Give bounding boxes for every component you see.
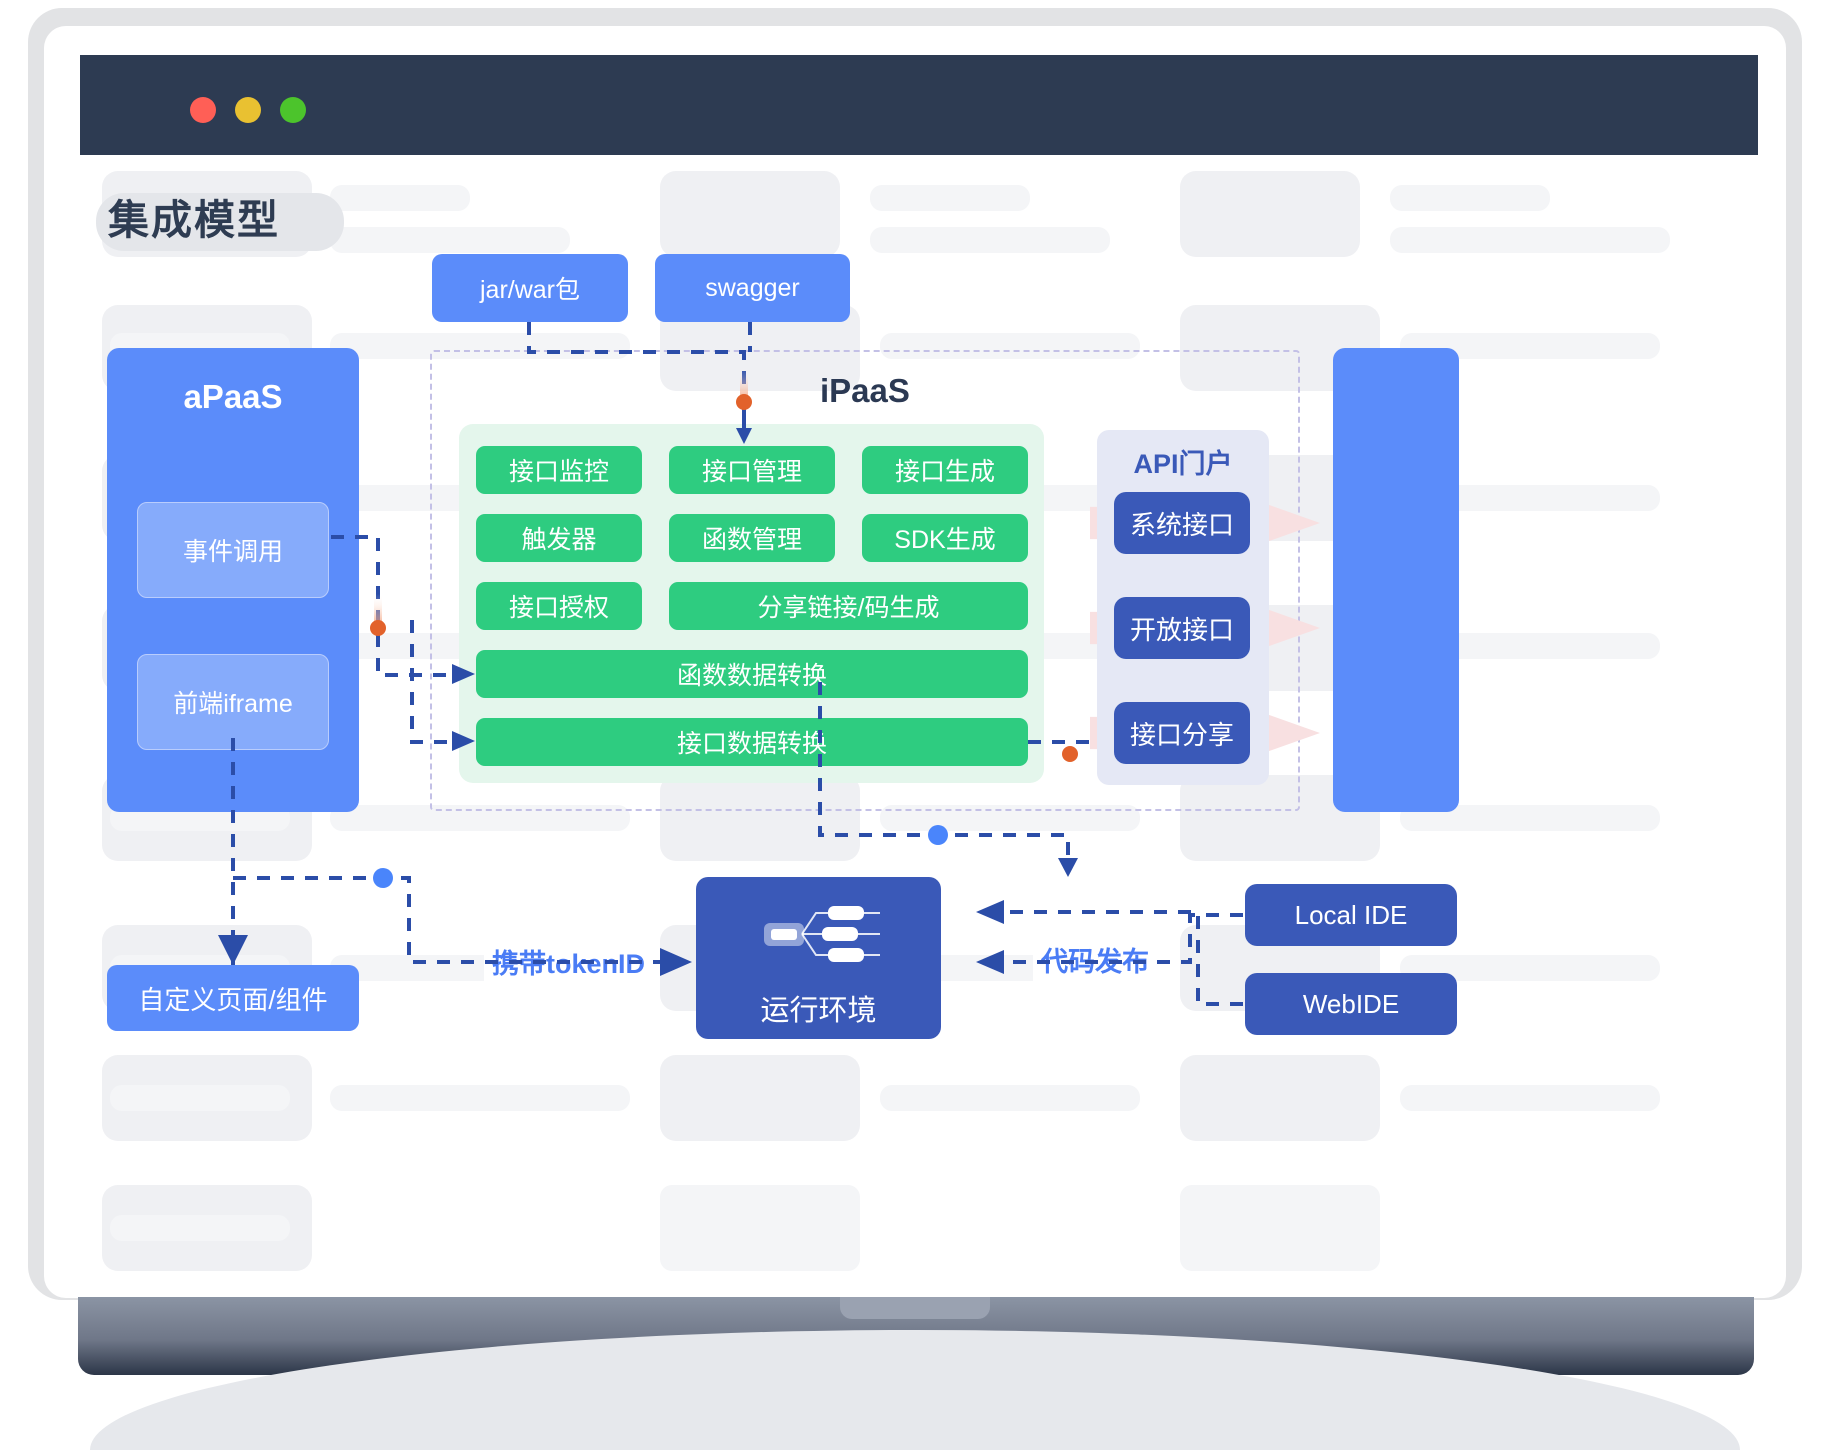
- edge-label-code-publish: 代码发布: [1033, 938, 1157, 981]
- node-local-ide[interactable]: Local IDE: [1245, 884, 1457, 946]
- edge-label-token-id: 携带tokenID: [484, 940, 653, 983]
- node-open-api-label: 开放接口: [1130, 610, 1234, 647]
- laptop-mockup: 集成模型 jar/war包 swagger aPaaS 事件调用 前端ifram…: [0, 0, 1830, 1397]
- node-api-manage-label: 接口管理: [702, 452, 802, 488]
- node-share-link[interactable]: 分享链接/码生成: [669, 582, 1028, 630]
- panel-apaas[interactable]: aPaaS 事件调用 前端iframe: [107, 348, 359, 812]
- node-api-share[interactable]: 接口分享: [1114, 702, 1250, 764]
- node-function-data-transform[interactable]: 函数数据转换: [476, 650, 1028, 698]
- node-api-authorize-label: 接口授权: [509, 588, 609, 624]
- node-local-ide-label: Local IDE: [1295, 900, 1408, 931]
- node-web-ide-label: WebIDE: [1303, 989, 1399, 1020]
- page-title: 集成模型: [108, 185, 280, 255]
- node-open-api[interactable]: 开放接口: [1114, 597, 1250, 659]
- node-api-monitor[interactable]: 接口监控: [476, 446, 642, 494]
- node-swagger[interactable]: swagger: [655, 254, 850, 322]
- panel-api-portal-title: API门户: [1097, 442, 1269, 481]
- node-api-monitor-label: 接口监控: [509, 452, 609, 488]
- node-api-share-label: 接口分享: [1130, 715, 1234, 752]
- node-frontend-iframe[interactable]: 前端iframe: [137, 654, 329, 750]
- ipaas-title: iPaaS: [820, 372, 910, 410]
- node-api-authorize[interactable]: 接口授权: [476, 582, 642, 630]
- node-trigger-label: 触发器: [521, 520, 596, 556]
- page-title-wrapper: 集成模型: [108, 185, 280, 255]
- node-jar-war[interactable]: jar/war包: [432, 254, 628, 322]
- node-system-api[interactable]: 系统接口: [1114, 492, 1250, 554]
- panel-apaas-title: aPaaS: [107, 378, 359, 416]
- node-system-api-label: 系统接口: [1130, 505, 1234, 542]
- node-frontend-iframe-label: 前端iframe: [173, 684, 292, 720]
- node-swagger-label: swagger: [705, 274, 800, 303]
- node-function-manage[interactable]: 函数管理: [669, 514, 835, 562]
- node-api-manage[interactable]: 接口管理: [669, 446, 835, 494]
- node-runtime-env[interactable]: 运行环境: [696, 877, 941, 1039]
- node-jar-war-label: jar/war包: [480, 270, 580, 306]
- runtime-tree-icon: [754, 899, 884, 969]
- node-event-call-label: 事件调用: [183, 532, 283, 568]
- node-function-manage-label: 函数管理: [702, 520, 802, 556]
- node-custom-page[interactable]: 自定义页面/组件: [107, 965, 359, 1031]
- node-api-data-transform-label: 接口数据转换: [677, 724, 827, 760]
- node-share-link-label: 分享链接/码生成: [758, 588, 940, 624]
- node-api-generate-label: 接口生成: [895, 452, 995, 488]
- node-runtime-env-label: 运行环境: [696, 987, 941, 1029]
- integration-model-diagram: 集成模型 jar/war包 swagger aPaaS 事件调用 前端ifram…: [0, 0, 1830, 1397]
- node-sdk-generate-label: SDK生成: [894, 520, 995, 556]
- node-trigger[interactable]: 触发器: [476, 514, 642, 562]
- node-custom-page-label: 自定义页面/组件: [138, 980, 327, 1017]
- node-api-data-transform[interactable]: 接口数据转换: [476, 718, 1028, 766]
- node-event-call[interactable]: 事件调用: [137, 502, 329, 598]
- node-function-data-transform-label: 函数数据转换: [677, 656, 827, 692]
- node-api-generate[interactable]: 接口生成: [862, 446, 1028, 494]
- node-sdk-generate[interactable]: SDK生成: [862, 514, 1028, 562]
- node-third-party-system[interactable]: 3rd 系统: [1333, 348, 1459, 812]
- node-web-ide[interactable]: WebIDE: [1245, 973, 1457, 1035]
